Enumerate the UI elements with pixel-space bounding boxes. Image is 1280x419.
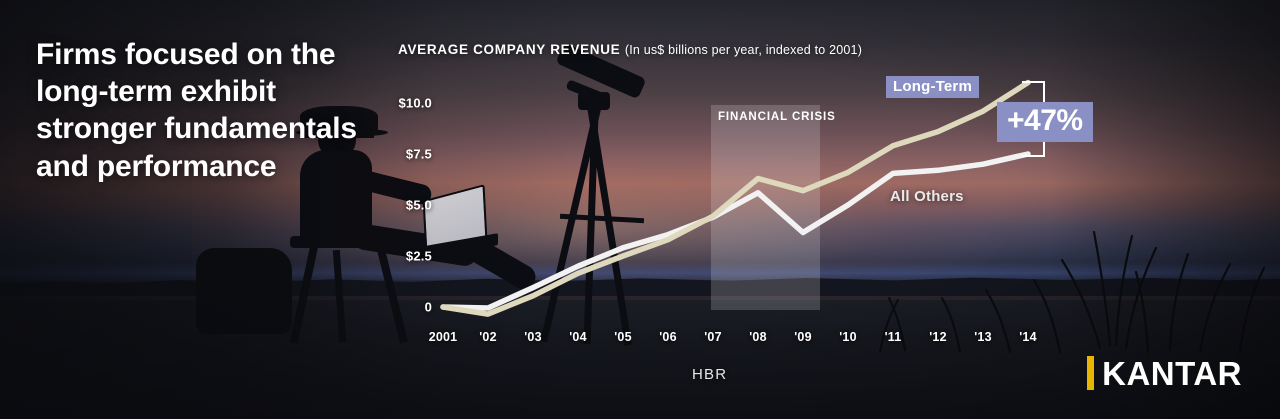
kantar-accent-bar [1087,356,1094,390]
line-all-others [443,154,1028,308]
series-label-long-term: Long-Term [886,76,979,98]
delta-badge: +47% [997,102,1093,142]
kantar-wordmark: KANTAR [1102,357,1242,390]
source-attribution: HBR [692,366,727,383]
kantar-logo: KANTAR [1087,356,1242,390]
infographic-canvas: Firms focused on the long-term exhibit s… [0,0,1280,419]
series-label-all-others: All Others [890,188,964,205]
